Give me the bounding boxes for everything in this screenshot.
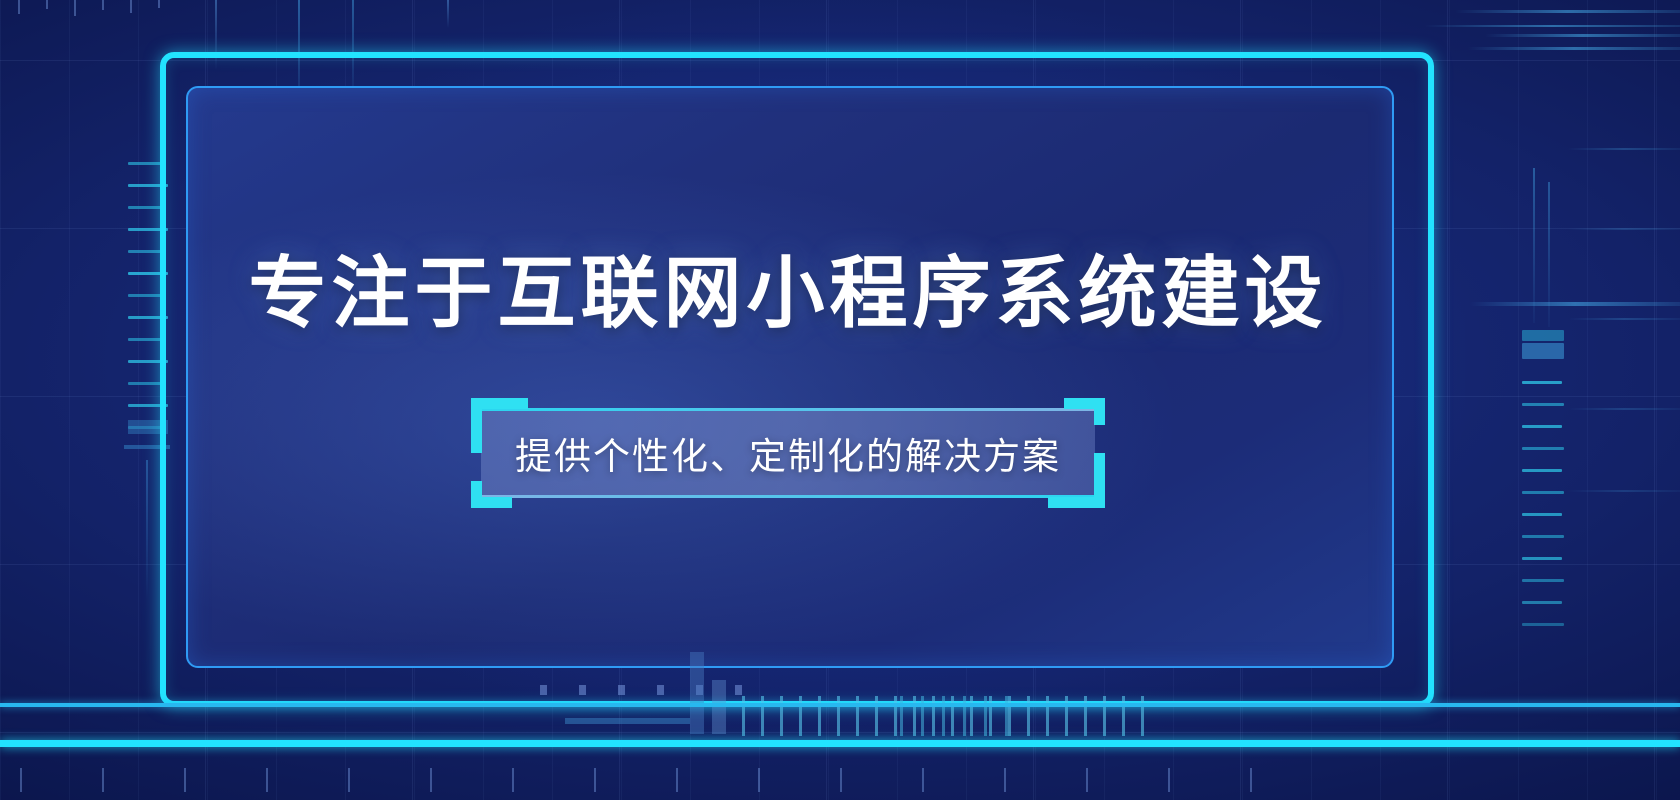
bottom-comb-right [742, 690, 1144, 736]
farright-line-4 [1568, 408, 1680, 410]
bottom-rail-lower [0, 740, 1680, 747]
top-tick-row [18, 0, 160, 16]
top-hairline-4 [447, 0, 449, 28]
banner-stage: 专注于互联网小程序系统建设 提供个性化、定制化的解决方案 [0, 0, 1680, 800]
bottom-bar-tall [690, 652, 704, 734]
page-title: 专注于互联网小程序系统建设 [248, 254, 1327, 332]
bottom-underline [565, 718, 690, 724]
left-hairline-1 [146, 460, 148, 600]
right-hairline-2 [1548, 182, 1550, 327]
subtitle-bottom-line [473, 495, 1095, 498]
topright-line-3 [1468, 47, 1680, 50]
bracket-top-right-icon [1064, 398, 1105, 425]
left-solid-block-2 [124, 445, 170, 449]
topright-line-2 [1485, 34, 1680, 37]
right-line-mid [1470, 302, 1680, 306]
topright-line-1 [1455, 10, 1680, 13]
bottom-comb-far-right [900, 690, 1008, 736]
bottom-rail-upper [0, 703, 1680, 707]
farright-line-1 [1568, 148, 1680, 150]
bottom-bar-short [712, 680, 726, 734]
left-solid-block-1 [128, 420, 168, 434]
page-subtitle: 提供个性化、定制化的解决方案 [515, 426, 1061, 480]
subtitle-plate: 提供个性化、定制化的解决方案 [481, 410, 1095, 496]
right-hairline-1 [1533, 168, 1535, 323]
farright-line-2 [1568, 228, 1680, 230]
banner-content: 专注于互联网小程序系统建设 提供个性化、定制化的解决方案 [186, 86, 1390, 664]
subtitle-top-line [481, 408, 1103, 411]
farright-line-5 [1568, 490, 1680, 492]
left-hairline-2 [160, 470, 162, 590]
right-tick-stack [1522, 330, 1568, 645]
farright-line-3 [1568, 318, 1680, 320]
topright-line-4 [1425, 25, 1680, 27]
top-hairline-1 [215, 0, 217, 70]
bottom-tick-row [20, 768, 1252, 792]
left-tick-stack [128, 162, 170, 448]
